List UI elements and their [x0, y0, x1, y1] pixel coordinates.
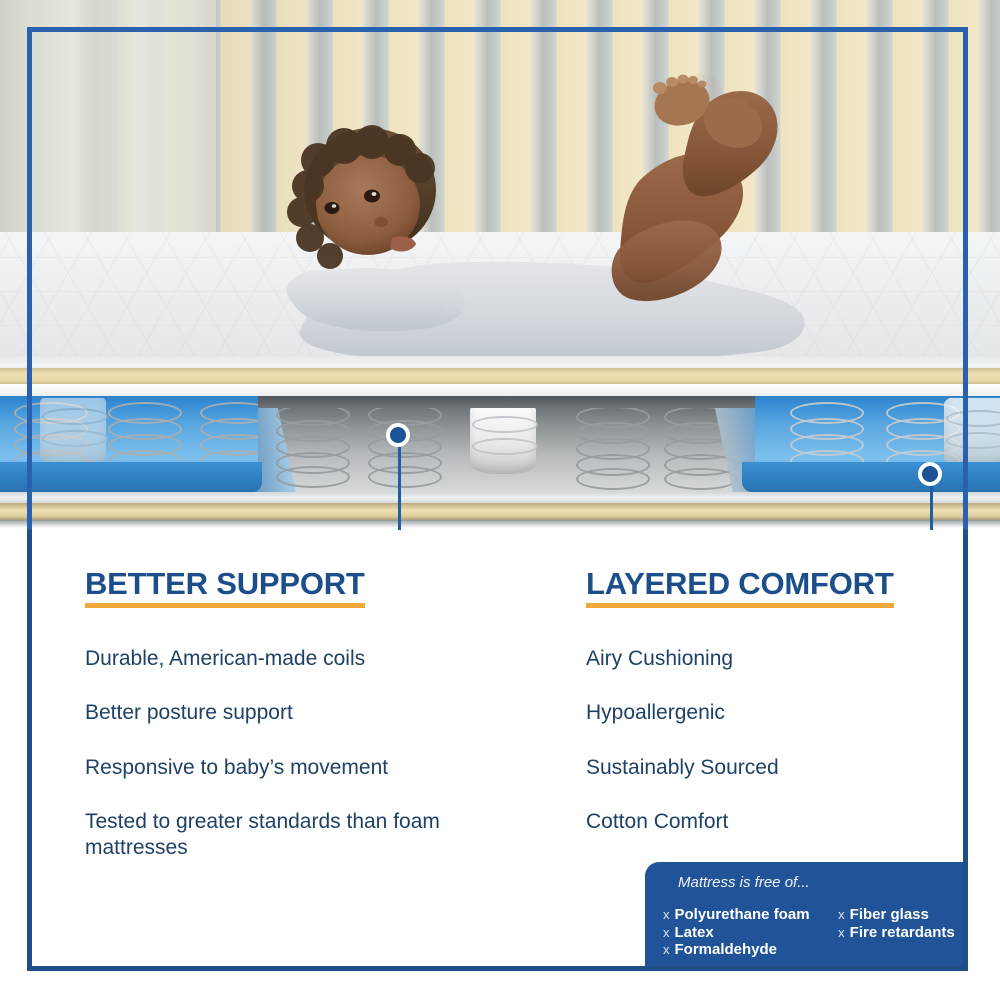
column-better-support: BETTER SUPPORT Durable, American-made co…	[85, 530, 555, 861]
frame-right-lower	[963, 530, 968, 971]
barrel-coil	[944, 398, 1000, 468]
mattress-cutaway-window	[258, 398, 755, 494]
coil-spring	[664, 404, 738, 490]
free-of-lists: xPolyurethane foam xLatex xFormaldehyde …	[663, 906, 963, 959]
mattress-drop-shadow	[0, 520, 1000, 528]
free-of-item-label: Latex	[675, 924, 714, 941]
x-marker-icon: x	[838, 907, 845, 922]
feature-item: Responsive to baby’s movement	[85, 755, 465, 781]
free-of-item-label: Fiber glass	[850, 906, 929, 923]
frame-bottom	[27, 966, 968, 971]
feature-item: Airy Cushioning	[586, 646, 966, 672]
heading-better-support: BETTER SUPPORT	[85, 568, 365, 608]
layered-comfort-callout-dot[interactable]	[918, 462, 942, 486]
coil-spring	[576, 404, 650, 490]
better-support-callout-dot[interactable]	[386, 423, 410, 447]
free-of-item-label: Formaldehyde	[675, 941, 778, 958]
feature-item: Hypoallergenic	[586, 700, 966, 726]
feature-item: Sustainably Sourced	[586, 755, 966, 781]
free-of-title: Mattress is free of...	[678, 874, 810, 891]
x-marker-icon: x	[663, 942, 670, 957]
product-photo	[0, 0, 1000, 530]
free-of-column-one: xPolyurethane foam xLatex xFormaldehyde	[663, 906, 828, 959]
frame-left-lower	[27, 530, 32, 971]
coil-chamber-lip-right	[742, 462, 1000, 492]
coil-spring	[368, 402, 442, 488]
feature-item: Durable, American-made coils	[85, 646, 465, 672]
mattress-bottom-foam-layer	[0, 503, 1000, 521]
column-layered-comfort: LAYERED COMFORT Airy Cushioning Hypoalle…	[586, 530, 986, 835]
x-marker-icon: x	[663, 907, 670, 922]
free-of-item: xLatex	[663, 924, 828, 942]
heading-layered-comfort: LAYERED COMFORT	[586, 568, 894, 608]
x-marker-icon: x	[838, 925, 845, 940]
free-of-box: Mattress is free of... xPolyurethane foa…	[645, 862, 967, 969]
barrel-coil	[40, 398, 106, 466]
free-of-item: xFormaldehyde	[663, 941, 828, 959]
feature-item: Cotton Comfort	[586, 809, 966, 835]
free-of-item: xPolyurethane foam	[663, 906, 828, 924]
cutaway-top-edge	[258, 396, 755, 408]
free-of-item: xFire retardants	[838, 924, 963, 942]
free-of-column-two: xFiber glass xFire retardants	[838, 906, 963, 959]
coil-spring	[276, 402, 350, 488]
free-of-item: xFiber glass	[838, 906, 963, 924]
x-marker-icon: x	[663, 925, 670, 940]
feature-item: Better posture support	[85, 700, 465, 726]
free-of-item-label: Polyurethane foam	[675, 906, 810, 923]
infographic-canvas: BETTER SUPPORT Durable, American-made co…	[0, 0, 1000, 1000]
coil-chamber-lip-left	[0, 462, 262, 492]
barrel-coil-featured	[470, 400, 536, 474]
feature-item: Tested to greater standards than foam ma…	[85, 809, 465, 862]
free-of-item-label: Fire retardants	[850, 924, 955, 941]
